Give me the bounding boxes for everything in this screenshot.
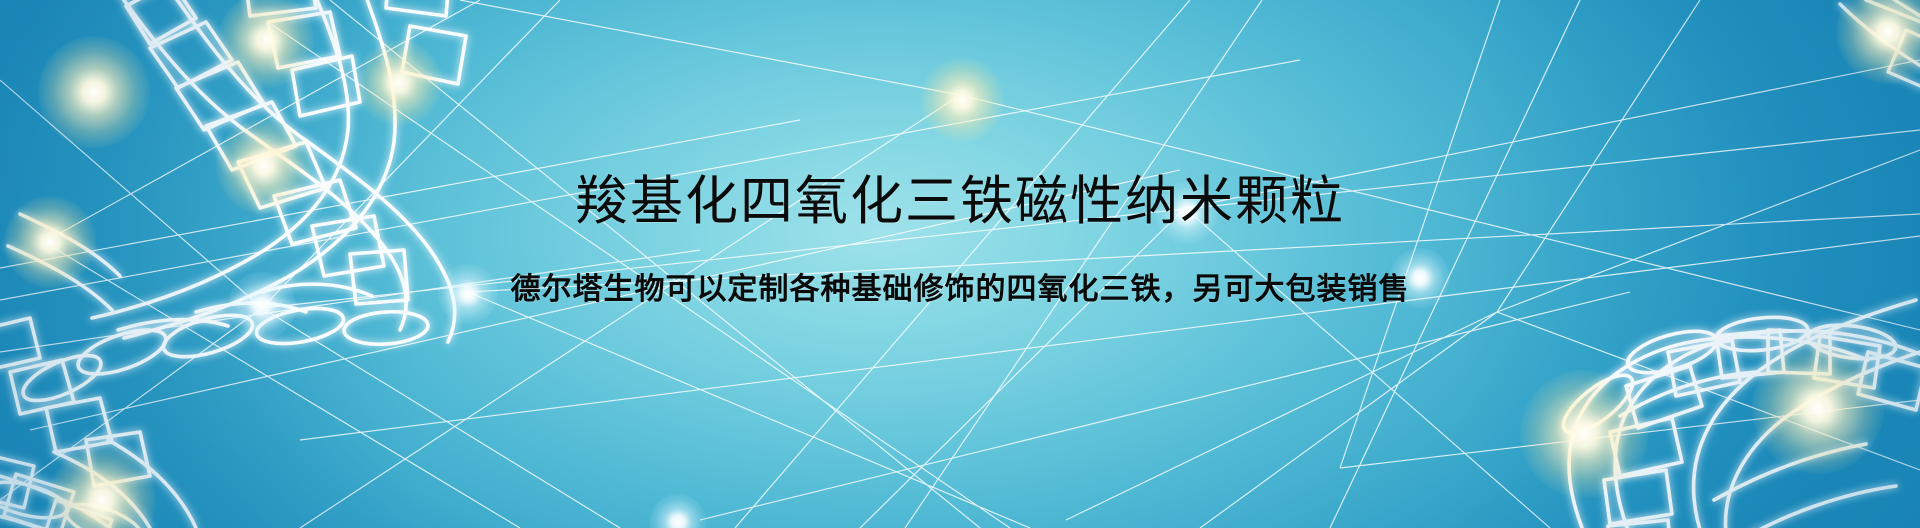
background-vignette	[0, 0, 1920, 528]
promotional-banner: 羧基化四氧化三铁磁性纳米颗粒 德尔塔生物可以定制各种基础修饰的四氧化三铁，另可大…	[0, 0, 1920, 528]
